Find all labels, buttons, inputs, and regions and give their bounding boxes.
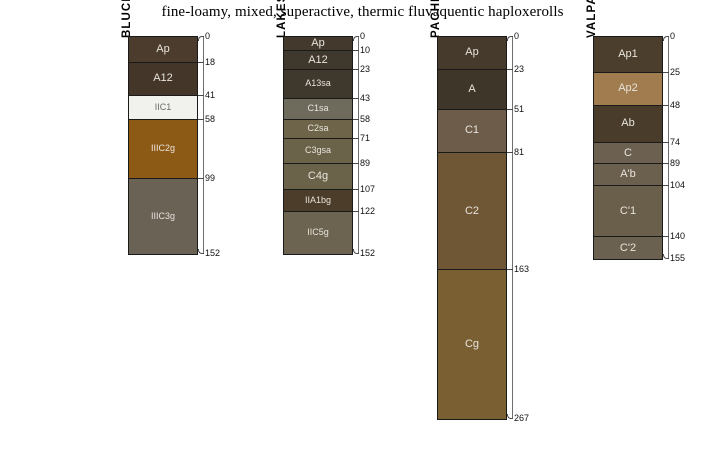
depth-tick-mark [507,269,513,270]
depth-tick-label: 43 [360,93,370,103]
depth-tick-label: 152 [205,248,220,258]
horizon-layer: Cg [438,270,506,419]
depth-tick-label: 23 [514,64,524,74]
depth-tick-mark [353,98,359,99]
horizon-label: Cg [465,339,479,350]
horizon-label: A13sa [305,79,331,88]
horizon-label: IIC5g [307,228,329,237]
depth-tick-label: 89 [670,158,680,168]
horizon-label: C3gsa [305,146,331,155]
horizon-layer: A13sa [284,70,352,99]
horizon-label: IIIC2g [151,144,175,153]
horizon-layer: Ab [594,106,662,143]
depth-tick-mark [663,254,669,259]
profile-column: Ap1Ap2AbCA'bC'1C'2 [593,36,663,260]
horizon-layer: C'2 [594,237,662,258]
horizon-label: C2sa [307,124,328,133]
depth-tick-mark [507,36,513,41]
depth-tick-mark [353,189,359,190]
depth-tick-mark [198,95,204,96]
depth-tick-mark [507,414,513,419]
depth-tick-label: 122 [360,206,375,216]
horizon-label: C'2 [620,243,636,254]
profile-name-label: BLUCHER [121,0,133,38]
profile-column: ApA12A13saC1saC2saC3gsaC4gIIA1bgIIC5g [283,36,353,255]
horizon-layer: A12 [129,63,197,96]
depth-tick-label: 140 [670,231,685,241]
horizon-layer: IIIC2g [129,120,197,179]
horizon-label: C1sa [307,104,328,113]
depth-tick-label: 267 [514,413,529,423]
depth-tick-mark [663,236,669,237]
depth-tick-label: 152 [360,248,375,258]
horizon-label: A12 [153,73,173,84]
horizon-label: C1 [465,125,479,136]
depth-tick-label: 23 [360,64,370,74]
horizon-layer: Ap [438,37,506,70]
horizon-label: Ap [465,47,478,58]
horizon-layer: IIC1 [129,96,197,120]
horizon-layer: Ap [284,37,352,51]
horizon-layer: IIA1bg [284,190,352,211]
horizon-layer: IIC5g [284,212,352,255]
soil-profile-chart: fine-loamy, mixed, superactive, thermic … [0,0,725,450]
depth-tick-label: 18 [205,57,215,67]
horizon-label: A'b [620,169,636,180]
depth-tick-mark [663,185,669,186]
horizon-layer: C1sa [284,99,352,120]
depth-tick-mark [353,119,359,120]
horizon-layer: C1 [438,110,506,153]
depth-tick-label: 0 [514,31,519,41]
horizon-label: C2 [465,206,479,217]
horizon-label: IIA1bg [305,196,331,205]
horizon-layer: A12 [284,51,352,70]
horizon-label: Ap [311,38,324,49]
horizon-layer: C3gsa [284,139,352,165]
depth-tick-mark [663,72,669,73]
horizon-layer: A'b [594,164,662,185]
profile-name-label: LAKESIDE [276,0,288,38]
page-title: fine-loamy, mixed, superactive, thermic … [0,4,725,21]
depth-tick-label: 107 [360,184,375,194]
profile-column: ApA12IIC1IIIC2gIIIC3g [128,36,198,255]
depth-tick-mark [507,152,513,153]
depth-tick-label: 0 [670,31,675,41]
horizon-label: Ap2 [618,83,638,94]
depth-tick-label: 89 [360,158,370,168]
depth-tick-label: 155 [670,253,685,263]
horizon-label: C'1 [620,206,636,217]
depth-tick-mark [198,249,204,254]
horizon-label: Ab [621,118,634,129]
depth-tick-mark [353,50,359,51]
depth-tick-mark [663,163,669,164]
depth-tick-label: 25 [670,67,680,77]
depth-tick-label: 163 [514,264,529,274]
depth-tick-label: 58 [205,114,215,124]
horizon-layer: C [594,143,662,164]
depth-tick-mark [353,69,359,70]
depth-tick-label: 104 [670,180,685,190]
depth-tick-mark [353,211,359,212]
depth-tick-mark [198,178,204,179]
depth-axis [512,36,513,418]
depth-tick-mark [353,36,359,41]
profile-name-label: PACHECO [430,0,442,38]
depth-tick-mark [198,36,204,41]
depth-tick-mark [507,69,513,70]
depth-tick-mark [663,105,669,106]
horizon-layer: Ap [129,37,197,63]
profile-name-label: VALPAC [586,0,598,38]
depth-axis [203,36,204,253]
depth-tick-mark [353,138,359,139]
horizon-layer: Ap1 [594,37,662,73]
depth-tick-label: 10 [360,45,370,55]
horizon-layer: A [438,70,506,110]
horizon-label: C4g [308,171,328,182]
profile-column: ApAC1C2Cg [437,36,507,420]
horizon-layer: C'1 [594,186,662,238]
horizon-label: Ap1 [618,49,638,60]
depth-tick-label: 71 [360,133,370,143]
depth-tick-label: 0 [360,31,365,41]
depth-tick-mark [353,249,359,254]
depth-tick-label: 99 [205,173,215,183]
horizon-layer: C2sa [284,120,352,139]
horizon-label: A12 [308,55,328,66]
depth-tick-mark [198,119,204,120]
horizon-label: IIIC3g [151,212,175,221]
depth-tick-label: 41 [205,90,215,100]
depth-tick-label: 74 [670,137,680,147]
horizon-label: A [468,84,475,95]
depth-tick-label: 51 [514,104,524,114]
depth-tick-label: 81 [514,147,524,157]
depth-tick-mark [507,109,513,110]
horizon-label: C [624,148,632,159]
depth-tick-mark [353,163,359,164]
depth-tick-label: 0 [205,31,210,41]
depth-tick-mark [663,36,669,41]
depth-tick-mark [198,62,204,63]
horizon-layer: C2 [438,153,506,270]
horizon-layer: C4g [284,164,352,190]
horizon-layer: IIIC3g [129,179,197,255]
horizon-layer: Ap2 [594,73,662,106]
depth-tick-mark [663,142,669,143]
depth-axis [668,36,669,258]
horizon-label: Ap [156,44,169,55]
horizon-label: IIC1 [155,103,172,112]
depth-tick-label: 58 [360,114,370,124]
depth-tick-label: 48 [670,100,680,110]
